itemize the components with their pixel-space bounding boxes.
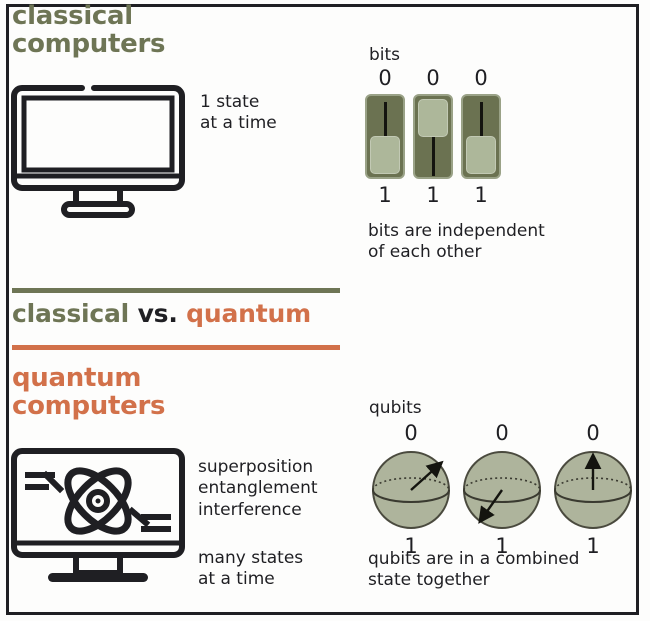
qubit-3-bottom-digit: 1	[586, 536, 599, 557]
classical-heading-line-1: classical	[12, 2, 165, 30]
bloch-sphere-1-icon[interactable]	[368, 447, 454, 533]
qubits-caption-line-1: qubits are in a combined	[368, 549, 579, 570]
bit-3-handle[interactable]	[466, 136, 496, 174]
bit-3-switch-body[interactable]	[461, 94, 501, 179]
bit-2-switch-body[interactable]	[413, 94, 453, 179]
qubit-3-top-digit: 0	[586, 423, 599, 444]
classical-state-line-2: at a time	[200, 113, 277, 134]
qubits-caption-line-2: state together	[368, 570, 579, 591]
bit-1-handle[interactable]	[370, 136, 400, 174]
classical-heading-line-2: computers	[12, 30, 165, 58]
bits-caption-line-2: of each other	[368, 242, 545, 263]
bit-switch-row: 0 1 0 1 0 1	[365, 68, 501, 206]
quantum-states-line-1: many states	[198, 548, 303, 569]
qubit-3[interactable]: 0 1	[550, 423, 636, 557]
bit-switch-2[interactable]: 0 1	[413, 68, 453, 206]
divider-rule-olive	[12, 288, 340, 293]
bit-3-top-digit: 0	[474, 68, 487, 89]
desktop-monitor-icon	[8, 82, 188, 222]
bit-1-switch-body[interactable]	[365, 94, 405, 179]
classical-state-text: 1 state at a time	[200, 92, 277, 135]
divider-title: classical vs. quantum	[12, 299, 311, 328]
qubits-label: qubits	[369, 398, 422, 418]
bits-label: bits	[369, 45, 400, 65]
infographic-canvas: classical computers 1 state at a time bi…	[0, 0, 650, 621]
divider-rule-orange	[12, 345, 340, 350]
qubit-1-top-digit: 0	[404, 423, 417, 444]
quantum-heading-line-2: computers	[12, 392, 165, 420]
quantum-property-superposition: superposition	[198, 457, 318, 478]
frame-border-bottom	[6, 612, 639, 615]
bits-caption: bits are independent of each other	[368, 221, 545, 264]
qubit-sphere-row: 0 1 0	[368, 423, 636, 557]
quantum-property-entanglement: entanglement	[198, 478, 318, 499]
bits-caption-line-1: bits are independent	[368, 221, 545, 242]
quantum-computers-heading: quantum computers	[12, 364, 165, 420]
qubits-caption: qubits are in a combined state together	[368, 549, 579, 592]
divider-vs-word: vs.	[138, 299, 178, 328]
divider-quantum-word: quantum	[186, 299, 311, 328]
quantum-heading-line-1: quantum	[12, 364, 165, 392]
bit-3-bottom-digit: 1	[474, 185, 487, 206]
quantum-states-line-2: at a time	[198, 569, 303, 590]
bit-2-top-digit: 0	[426, 68, 439, 89]
classical-computers-heading: classical computers	[12, 2, 165, 58]
frame-border-right	[636, 4, 639, 615]
bit-1-top-digit: 0	[378, 68, 391, 89]
quantum-states-text: many states at a time	[198, 548, 303, 591]
bloch-sphere-2-icon[interactable]	[459, 447, 545, 533]
bit-switch-1[interactable]: 0 1	[365, 68, 405, 206]
quantum-monitor-atom-icon	[8, 445, 188, 595]
bit-2-bottom-digit: 1	[426, 185, 439, 206]
qubit-2-top-digit: 0	[495, 423, 508, 444]
classical-vs-quantum-divider: classical vs. quantum	[12, 288, 340, 350]
bit-switch-3[interactable]: 0 1	[461, 68, 501, 206]
bit-2-handle[interactable]	[418, 99, 448, 137]
bloch-sphere-3-icon[interactable]	[550, 447, 636, 533]
quantum-property-interference: interference	[198, 500, 318, 521]
divider-classical-word: classical	[12, 299, 129, 328]
qubit-1[interactable]: 0 1	[368, 423, 454, 557]
bit-1-bottom-digit: 1	[378, 185, 391, 206]
classical-state-line-1: 1 state	[200, 92, 277, 113]
quantum-properties-text: superposition entanglement interference	[198, 457, 318, 521]
qubit-2[interactable]: 0 1	[459, 423, 545, 557]
